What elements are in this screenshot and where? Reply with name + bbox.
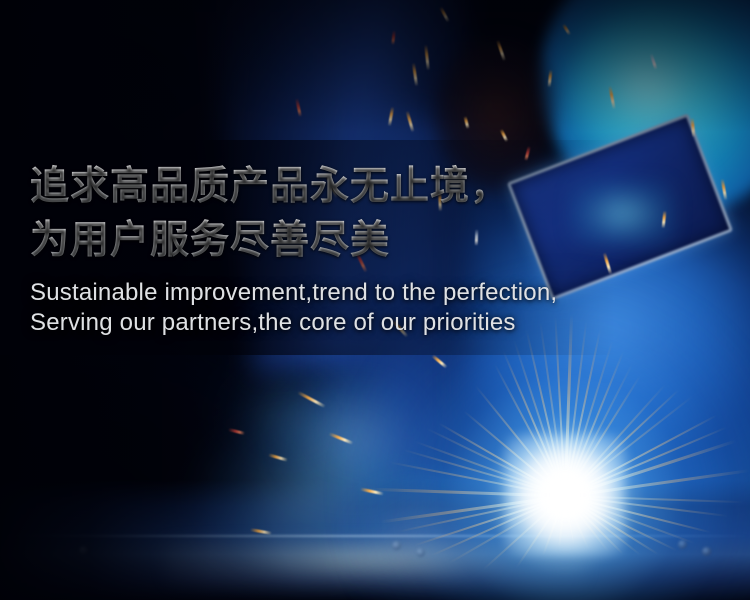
banner-copy: 追求高品质产品永无止境， 追求高品质产品永无止境， 为用户服务尽善尽美 为用户服… <box>30 160 720 338</box>
headline-line2: 为用户服务尽善尽美 <box>30 214 720 268</box>
subheadline-line2: Serving our partners,the core of our pri… <box>30 308 720 338</box>
hero-banner: 追求高品质产品永无止境， 追求高品质产品永无止境， 为用户服务尽善尽美 为用户服… <box>0 0 750 600</box>
subheadline-line1: Sustainable improvement,trend to the per… <box>30 278 720 308</box>
headline-line1: 追求高品质产品永无止境， <box>30 160 720 214</box>
